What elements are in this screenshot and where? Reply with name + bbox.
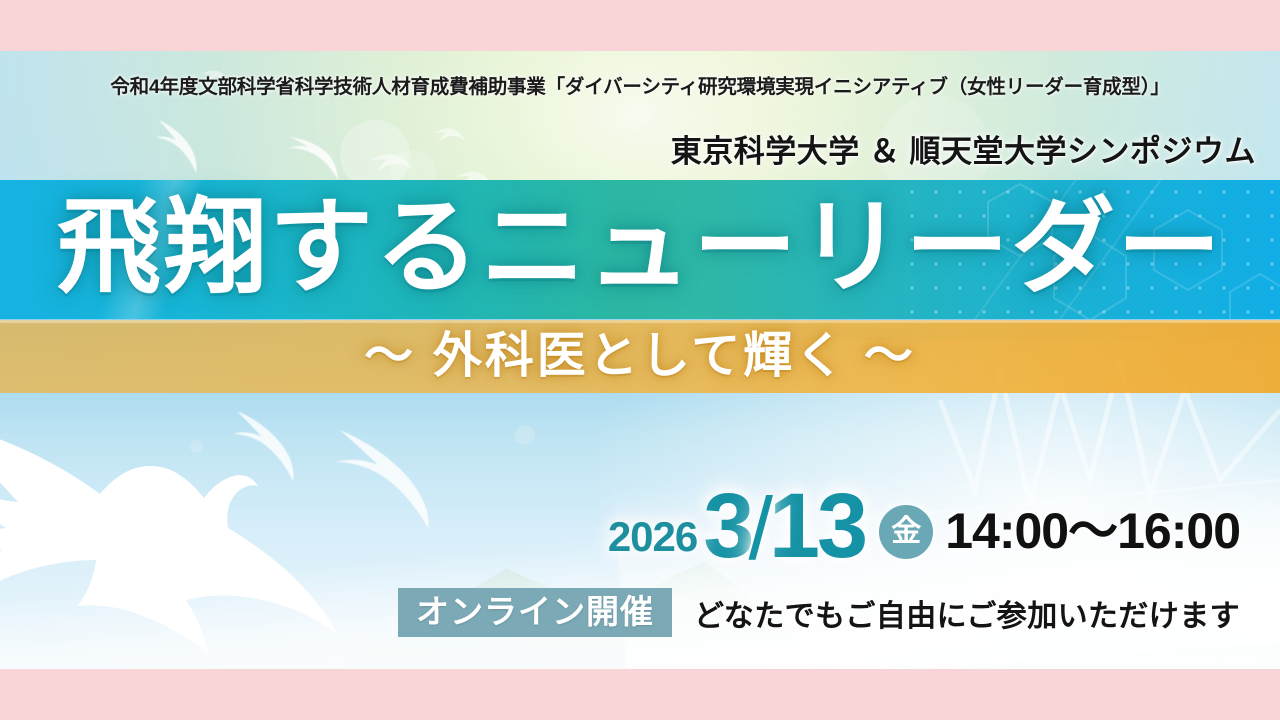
bokeh-circle [620, 100, 650, 130]
pink-frame-top [0, 0, 1280, 51]
day-of-week-badge: 金 [879, 505, 933, 559]
symposium-subtitle-text: 東京科学大学 ＆ 順天堂大学シンポジウム [671, 134, 1256, 169]
event-date-row: 2026 3 / 13 金 14:00〜16:00 [608, 484, 1240, 569]
sub-title: 〜 外科医として輝く 〜 [0, 320, 1280, 393]
pink-frame-bottom [0, 669, 1280, 720]
event-time: 14:00〜16:00 [945, 491, 1240, 563]
grant-line: 令和4年度文部科学省科学技術人材育成費補助事業「ダイバーシティ研究環境実現イニシ… [0, 70, 1280, 99]
event-day: 13 [769, 484, 865, 569]
online-format-chip: オンライン開催 [398, 588, 672, 637]
bird-icon [432, 116, 472, 156]
main-title: 飛翔するニューリーダー [0, 180, 1280, 319]
bird-icon [330, 420, 450, 530]
bird-icon [230, 395, 320, 485]
bird-icon [150, 110, 222, 182]
symposium-subtitle: 東京科学大学 ＆ 順天堂大学シンポジウム [671, 126, 1256, 171]
grant-line-text: 令和4年度文部科学省科学技術人材育成費補助事業「ダイバーシティ研究環境実現イニシ… [110, 70, 1169, 99]
poster-canvas: 飛翔するニューリーダー 〜 外科医として輝く 〜 令和4年度文部科学省科学技術人… [0, 0, 1280, 720]
bird-icon [285, 122, 351, 188]
main-title-text: 飛翔するニューリーダー [57, 196, 1223, 300]
sub-title-text: 〜 外科医として輝く 〜 [364, 332, 916, 381]
date-separator: / [748, 487, 772, 571]
event-info-row: オンライン開催 どなたでもご自由にご参加いただけます [398, 588, 1240, 637]
day-of-week-text: 金 [891, 517, 921, 547]
event-year: 2026 [608, 513, 697, 561]
event-month: 3 [703, 484, 752, 569]
free-participation-note: どなたでもご自由にご参加いただけます [694, 591, 1240, 635]
